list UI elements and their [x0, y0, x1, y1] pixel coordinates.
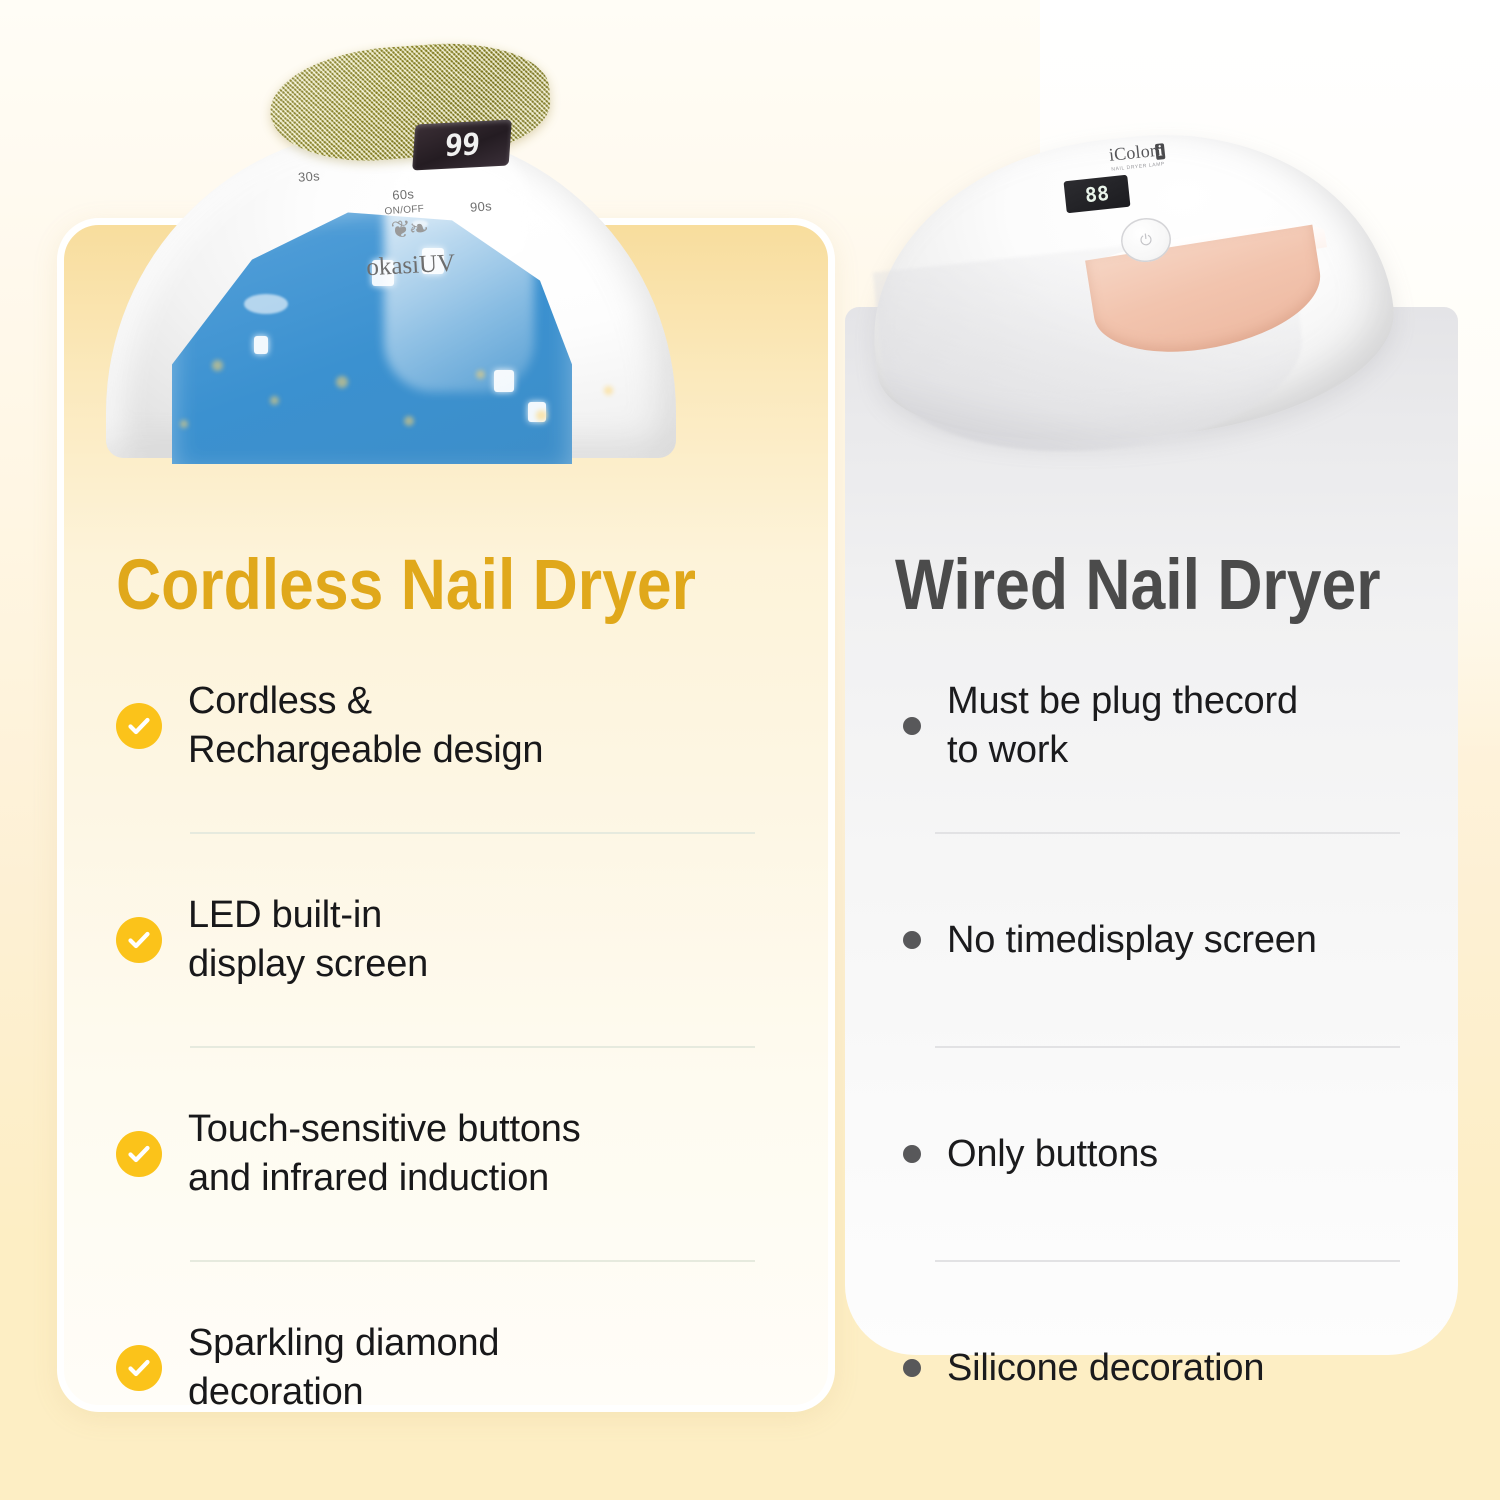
feature-text: Cordless &Rechargeable design [188, 677, 543, 774]
brand-suffix: UV [418, 250, 455, 279]
check-icon [116, 703, 162, 749]
glow-dot [270, 396, 279, 405]
glitter-decoration [266, 36, 553, 167]
feature-text: Sparkling diamonddecoration [188, 1319, 499, 1416]
lcd-display: 88 [1064, 175, 1131, 214]
list-item: Cordless &Rechargeable design [116, 672, 776, 780]
control-90s-label: 90s [469, 198, 492, 214]
control-90s[interactable]: 90s [470, 199, 493, 214]
feature-text: No timedisplay screen [947, 916, 1317, 965]
list-item: No timedisplay screen [890, 886, 1420, 994]
list-item: LED built-indisplay screen [116, 886, 776, 994]
brand-text: iColor [1108, 140, 1157, 165]
wired-nail-dryer-image: iColori NAIL DRYER LAMP 88 ⏻ [862, 130, 1442, 460]
list-item: Touch-sensitive buttonsand infrared indu… [116, 1100, 776, 1208]
bullet-dot-icon [903, 717, 921, 735]
glow-dot [604, 386, 613, 395]
list-item: Only buttons [890, 1100, 1420, 1208]
list-item: Silicone decoration [890, 1314, 1420, 1422]
list-item: Must be plug thecordto work [890, 672, 1420, 780]
control-60s-onoff[interactable]: 60s ON/OFF [383, 187, 424, 218]
lcd-digits: 88 [1084, 181, 1110, 207]
feature-text: LED built-indisplay screen [188, 891, 428, 988]
bullet-dot-icon [903, 931, 921, 949]
feature-text: Only buttons [947, 1130, 1158, 1179]
reflection-highlight [244, 294, 288, 314]
bullet-dot-icon [903, 1145, 921, 1163]
glow-dot [336, 376, 348, 388]
glow-dot [212, 360, 223, 371]
brand-text: okasi [366, 252, 420, 282]
glow-dot [536, 410, 547, 421]
glow-dot [180, 420, 188, 428]
cordless-feature-list: Cordless &Rechargeable design LED built-… [116, 672, 776, 1422]
control-30s-label: 30s [297, 168, 320, 184]
check-icon [116, 1131, 162, 1177]
check-icon [116, 1345, 162, 1391]
power-icon: ⏻ [1139, 231, 1153, 249]
led-bead [254, 336, 268, 354]
feature-text: Touch-sensitive buttonsand infrared indu… [188, 1105, 581, 1202]
control-60s-label: 60s [392, 186, 415, 202]
feature-text: Silicone decoration [947, 1344, 1264, 1393]
brand-logo-okasiuv: ❦❧ okasiUV [298, 214, 521, 289]
cordless-column-title: Cordless Nail Dryer [116, 550, 696, 621]
list-item: Sparkling diamonddecoration [116, 1314, 776, 1422]
wired-feature-list: Must be plug thecordto work No timedispl… [890, 672, 1420, 1422]
lcd-display: 99 [412, 120, 512, 171]
glow-dot [476, 370, 485, 379]
feature-text: Must be plug thecordto work [947, 677, 1298, 774]
lcd-digits: 99 [444, 127, 481, 164]
check-icon [116, 917, 162, 963]
glow-dot [404, 416, 414, 426]
brand-mark: i [1155, 143, 1165, 160]
cordless-nail-dryer-image: 99 30s 60s ON/OFF 90s ❦❧ okasiUV [84, 24, 784, 504]
bullet-dot-icon [903, 1359, 921, 1377]
wired-column-title: Wired Nail Dryer [895, 550, 1381, 621]
control-30s[interactable]: 30s [298, 169, 321, 184]
